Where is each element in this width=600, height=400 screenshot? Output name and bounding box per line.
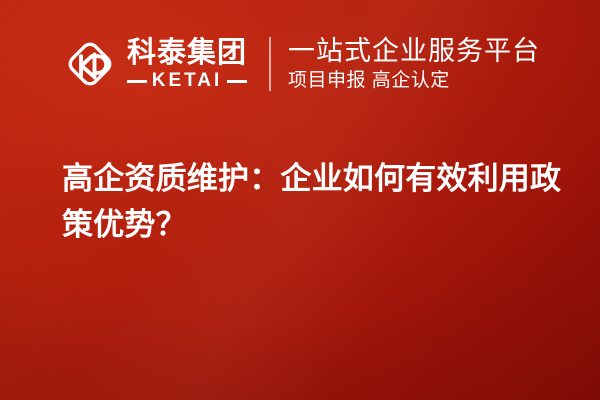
promo-banner: 科泰集团 KETAI 一站式企业服务平台 项目申报 高企认定 高企资质维护：企业…: [0, 0, 600, 400]
brand-tagline: 一站式企业服务平台 项目申报 高企认定: [288, 36, 540, 92]
brand-wordmark: 科泰集团 KETAI: [127, 37, 247, 91]
tagline-secondary: 项目申报 高企认定: [288, 70, 540, 92]
brand-logo[interactable]: 科泰集团 KETAI: [62, 36, 247, 92]
brand-name-en: KETAI: [152, 71, 223, 91]
brand-name-en-row: KETAI: [127, 71, 247, 91]
banner-header: 科泰集团 KETAI 一站式企业服务平台 项目申报 高企认定: [62, 36, 540, 92]
page-title: 高企资质维护：企业如何有效利用政策优势？: [62, 156, 574, 248]
wordmark-rule-right-icon: [227, 80, 247, 83]
wordmark-rule-left-icon: [127, 80, 147, 83]
brand-name-cn: 科泰集团: [127, 37, 247, 69]
ketai-kd-diamond-logo-icon: [62, 36, 118, 92]
header-divider-icon: [269, 37, 271, 91]
tagline-primary: 一站式企业服务平台: [288, 36, 540, 67]
